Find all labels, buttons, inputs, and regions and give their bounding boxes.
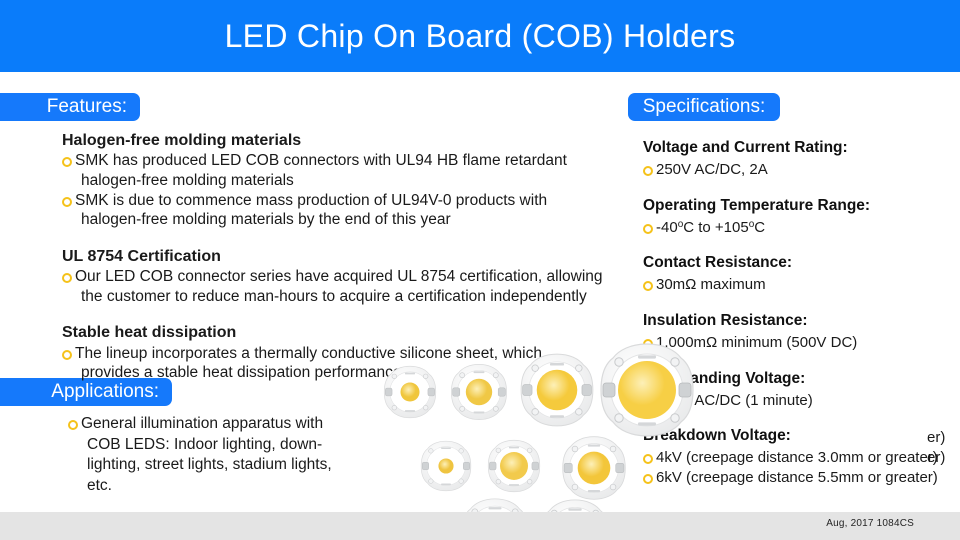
led-cob-holder-icon [449,362,509,422]
spec-value: -40oC to +105oC [643,218,960,238]
feature-bullet-continuation: halogen-free molding materials [62,171,632,191]
feature-group: UL 8754 CertificationOur LED COB connect… [62,247,632,307]
spec-value: 30mΩ maximum [643,275,960,295]
led-emitter [400,382,419,401]
spec-block: Voltage and Current Rating:250V AC/DC, 2… [643,138,960,180]
spec-block: Operating Temperature Range:-40oC to +10… [643,196,960,238]
led-cob-holder-icon [419,439,473,493]
feature-bullet-continuation: the customer to reduce man-hours to acqu… [62,287,632,307]
application-bullet-continuation: lighting, street lights, stadium lights, [68,455,358,476]
feature-bullet-item: Our LED COB connector series have acquir… [62,267,632,287]
led-cob-holder-icon [486,438,542,494]
spec-heading: Insulation Resistance: [643,311,960,331]
spec-heading: Operating Temperature Range: [643,196,960,216]
spec-value: 250V AC/DC, 2A [643,160,960,180]
feature-bullet-item: SMK is due to commence mass production o… [62,191,632,211]
spec-block: Contact Resistance:30mΩ maximum [643,253,960,295]
applications-section: General illumination apparatus withCOB L… [68,414,358,496]
application-bullet-continuation: COB LEDS: Indoor lighting, down- [68,435,358,456]
clipped-text-fragment: er) [927,428,960,448]
section-badge-specifications: Specifications: [628,93,780,121]
spec-heading: Voltage and Current Rating: [643,138,960,158]
spec-heading: Contact Resistance: [643,253,960,273]
application-bullet-continuation: etc. [68,476,358,497]
feature-group: Halogen-free molding materialsSMK has pr… [62,131,632,230]
footer-date-code: Aug, 2017 1084CS [826,518,914,529]
led-cob-holder-icon [518,351,596,429]
led-emitter [466,379,492,405]
section-badge-features: Features: [0,93,140,121]
application-bullet-item: General illumination apparatus with [68,414,358,435]
led-emitter [500,452,528,480]
led-cob-holder-photo-group [383,362,633,522]
page-title: LED Chip On Board (COB) Holders [0,0,960,72]
led-emitter [537,370,578,411]
led-cob-holder-icon [382,364,438,420]
clipped-text-fragment: er) [927,448,960,468]
led-emitter [438,458,453,473]
slide-canvas: LED Chip On Board (COB) Holders Features… [0,0,960,540]
feature-group-title: Halogen-free molding materials [62,131,632,151]
led-cob-holder-icon [560,434,628,502]
spec-value: 6kV (creepage distance 5.5mm or greater) [643,468,960,488]
spec-value: 4kV (creepage distance 3.0mm or greater) [643,448,960,468]
feature-group-title: Stable heat dissipation [62,323,632,343]
feature-bullet-continuation: halogen-free molding materials by the en… [62,210,632,230]
bottom-band [0,512,960,540]
led-cob-holder-icon [597,340,697,440]
features-section: Halogen-free molding materialsSMK has pr… [62,131,632,383]
led-emitter [618,361,676,419]
feature-group-title: UL 8754 Certification [62,247,632,267]
led-emitter [578,452,611,485]
feature-bullet-item: SMK has produced LED COB connectors with… [62,151,632,171]
